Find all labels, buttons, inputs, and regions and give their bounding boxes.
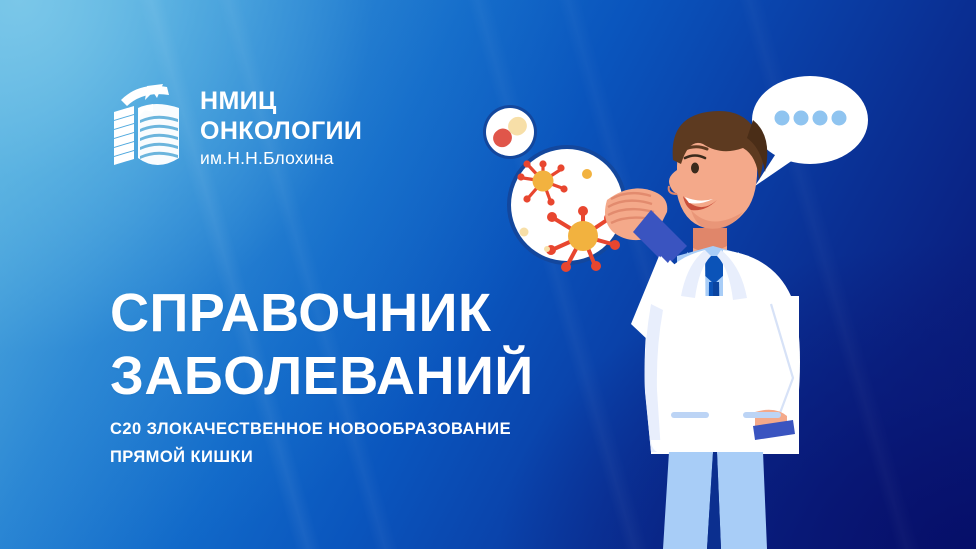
doctor-character-icon [455, 60, 875, 549]
doctor-illustration [455, 60, 875, 549]
capsule-pill-icon [483, 105, 537, 159]
page-subtitle: С20 ЗЛОКАЧЕСТВЕННОЕ НОВООБРАЗОВАНИЕ ПРЯМ… [110, 415, 511, 472]
brand-line-3: им.Н.Н.Блохина [200, 150, 362, 168]
hand-icon [605, 188, 687, 266]
brand-logo-wordmark: НМИЦ ОНКОЛОГИИ им.Н.Н.Блохина [200, 89, 362, 168]
brand-logo[interactable]: НМИЦ ОНКОЛОГИИ им.Н.Н.Блохина [109, 78, 362, 178]
stacked-layers-logo-icon [109, 78, 187, 178]
speech-bubble-icon [752, 76, 868, 186]
brand-line-2: ОНКОЛОГИИ [200, 119, 362, 144]
poster-canvas: НМИЦ ОНКОЛОГИИ им.Н.Н.Блохина СПРАВОЧНИК… [0, 0, 976, 549]
brand-line-1: НМИЦ [200, 89, 362, 114]
doctor-legs [663, 452, 767, 549]
doctor-head [669, 111, 768, 229]
